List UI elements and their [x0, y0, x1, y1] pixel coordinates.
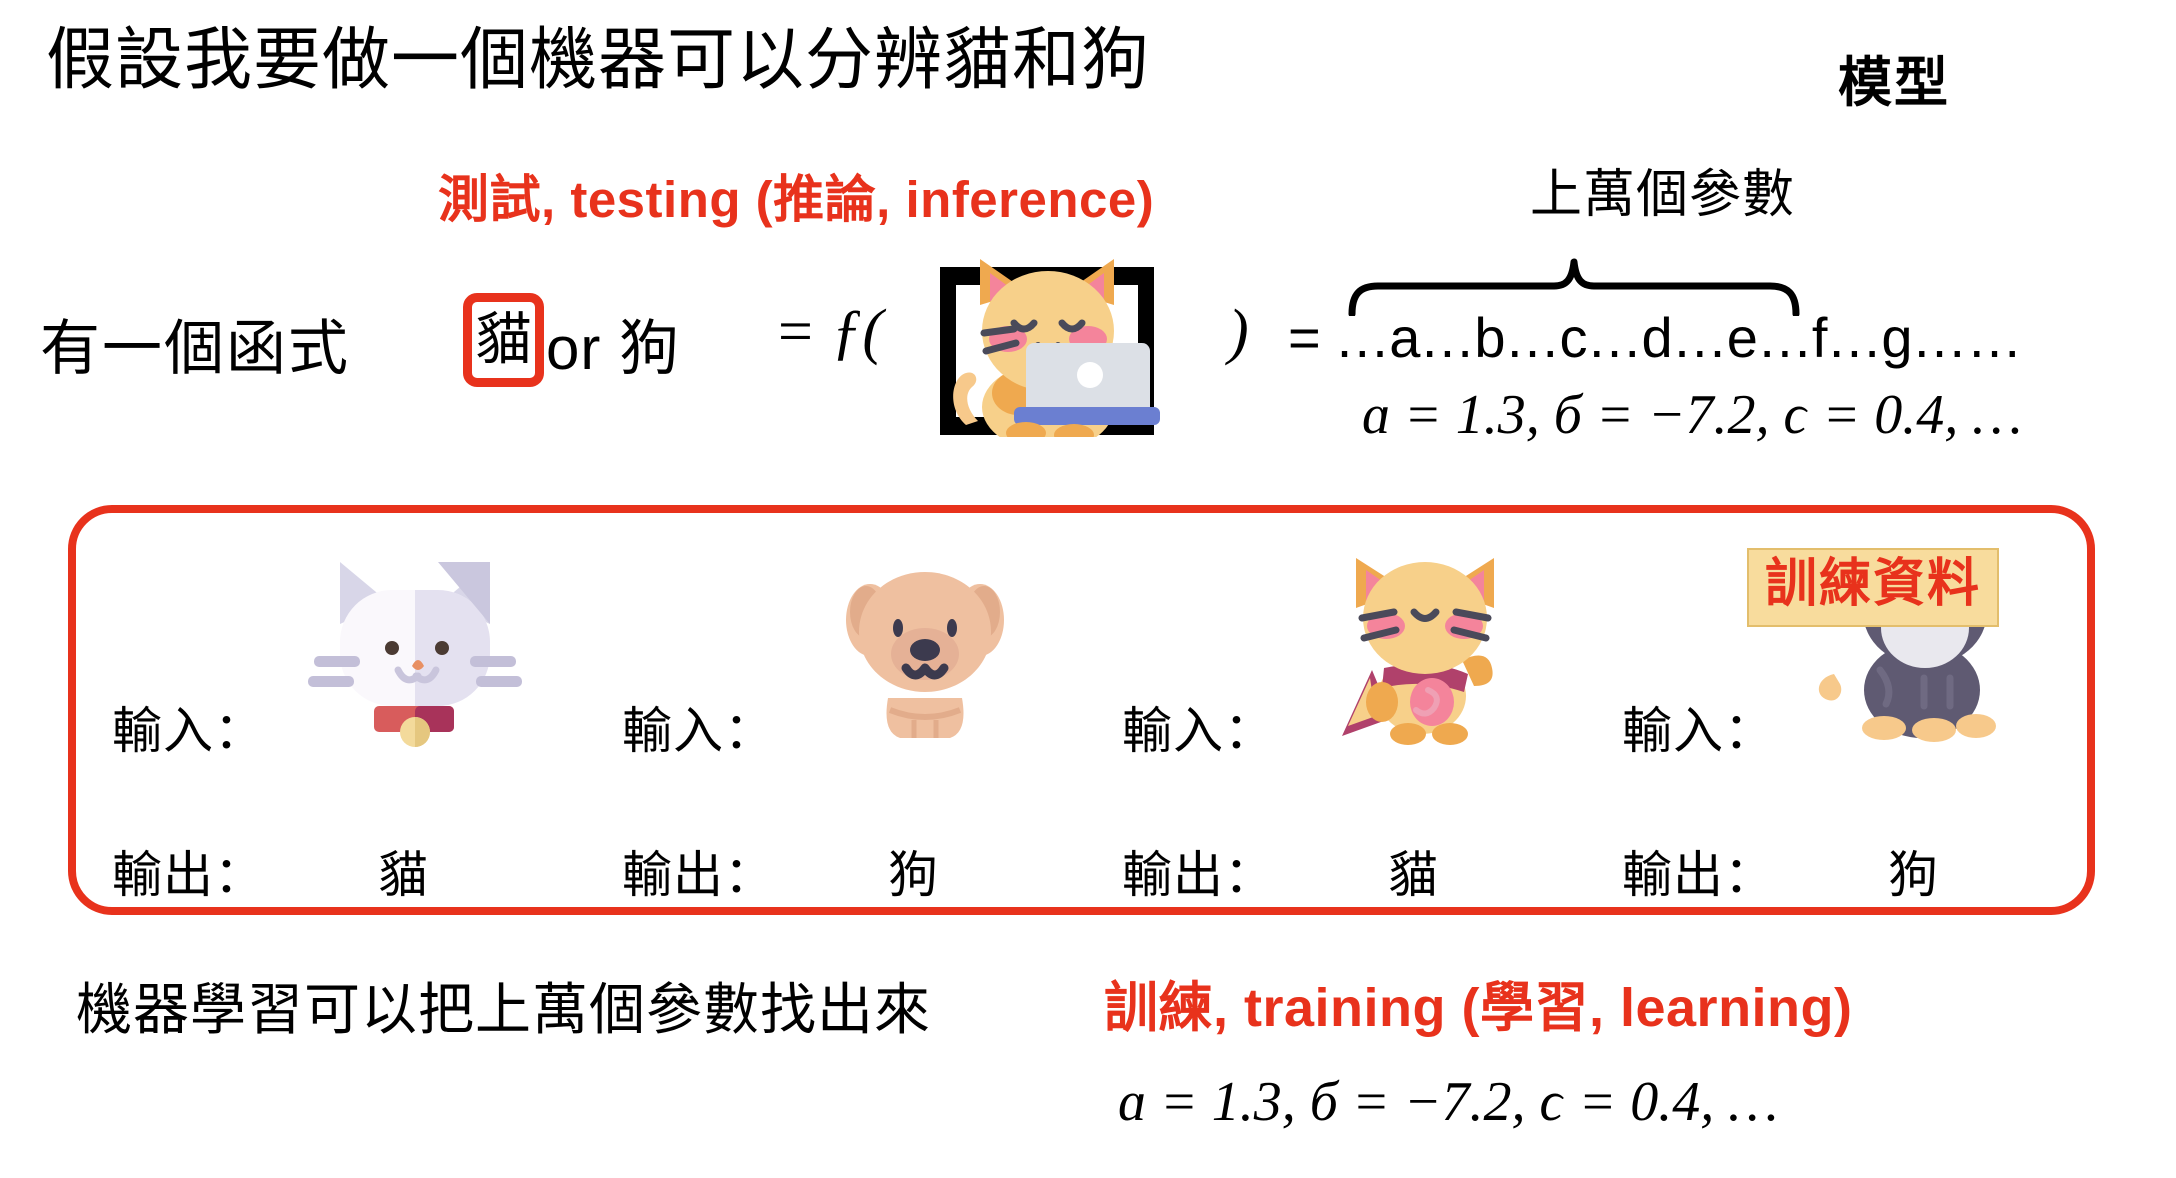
- training-sample: 輸入： 輸出： 貓: [1098, 505, 1598, 915]
- output-label: 輸出：: [1122, 835, 1275, 907]
- parameters-expression: = …a…b…c…d…e…f…g……: [1288, 305, 2022, 370]
- parameter-values-bottom: ɑ = 1.3, б = −7.2, ϲ = 0.4, …: [1118, 1070, 1778, 1134]
- close-paren: ): [1228, 297, 1249, 368]
- machine-learning-caption: 機器學習可以把上萬個參數找出來: [76, 965, 931, 1046]
- input-label: 輸入：: [1622, 691, 1775, 763]
- function-lead-text: 有一個函式: [40, 300, 350, 387]
- output-value: 狗: [888, 835, 938, 907]
- output-label: 輸出：: [622, 835, 775, 907]
- input-label: 輸入：: [112, 691, 265, 763]
- output-label: 輸出：: [1622, 835, 1775, 907]
- output-value: 貓: [1388, 835, 1438, 907]
- output-value: 狗: [1888, 835, 1938, 907]
- parameter-values-top: ɑ = 1.3, б = −7.2, ϲ = 0.4, …: [1362, 383, 2022, 447]
- parameter-count-caption: 上萬個參數: [1530, 152, 1795, 227]
- input-label: 輸入：: [622, 691, 775, 763]
- page-title: 假設我要做一個機器可以分辨貓和狗: [46, 22, 1150, 98]
- cat-with-laptop-photo-icon: [922, 257, 1172, 437]
- model-title: 模型: [1838, 38, 1950, 117]
- highlighted-cat-output-box: 貓: [463, 293, 544, 387]
- training-annotation: 訓練, training (學習, learning): [1104, 963, 1853, 1042]
- testing-annotation: 測試, testing (推論, inference): [438, 158, 1154, 232]
- equals-f-open-paren: = ƒ(: [774, 297, 883, 368]
- output-label: 輸出：: [112, 835, 265, 907]
- training-sample: 輸入： 輸出： 狗: [598, 505, 1098, 915]
- training-sample: 輸入： 輸出： 貓: [88, 505, 588, 915]
- training-data-badge: 訓練資料: [1747, 548, 1999, 627]
- output-value: 貓: [378, 835, 428, 907]
- beige-dog-icon: [810, 550, 1040, 750]
- white-cat-face-icon: [300, 550, 530, 750]
- hero-cat-icon: [1310, 550, 1540, 750]
- input-label: 輸入：: [1122, 691, 1275, 763]
- highlighted-cat-label: 貓: [475, 312, 532, 369]
- or-dog-text: or 狗: [546, 300, 680, 387]
